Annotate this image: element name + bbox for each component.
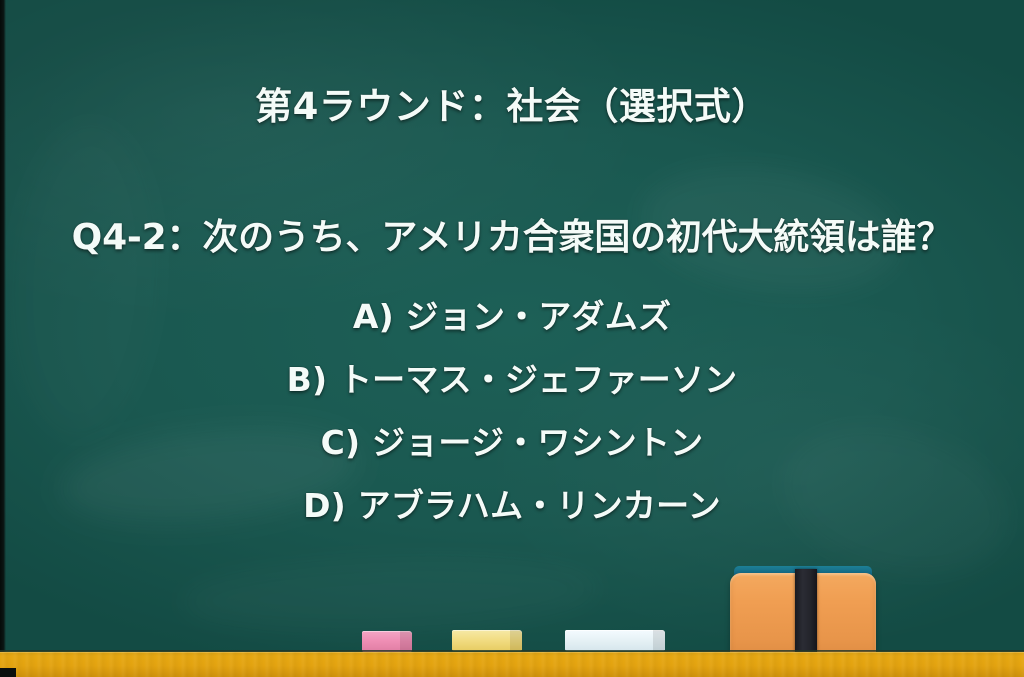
chalk-end-cap bbox=[653, 630, 665, 651]
tray-wood-grain bbox=[0, 652, 1024, 677]
chalk-end-cap bbox=[510, 630, 522, 651]
white-chalk bbox=[565, 630, 665, 651]
choice-option-b[interactable]: B) トーマス・ジェファーソン bbox=[0, 348, 1024, 411]
chalk-tray bbox=[0, 652, 1024, 677]
chalkboard-quiz-slide: 第4ラウンド：社会（選択式） Q4-2：次のうち、アメリカ合衆国の初代大統領は誰… bbox=[0, 0, 1024, 677]
chalk-dust-smudge bbox=[179, 553, 601, 638]
question-text: Q4-2：次のうち、アメリカ合衆国の初代大統領は誰？ bbox=[0, 215, 1024, 262]
choice-option-d[interactable]: D) アブラハム・リンカーン bbox=[0, 474, 1024, 537]
choice-option-a[interactable]: A) ジョン・アダムズ bbox=[0, 285, 1024, 348]
choice-list: A) ジョン・アダムズ B) トーマス・ジェファーソン C) ジョージ・ワシント… bbox=[0, 285, 1024, 537]
chalk-end-cap bbox=[400, 631, 412, 652]
choice-option-c[interactable]: C) ジョージ・ワシントン bbox=[0, 411, 1024, 474]
bottom-left-corner-notch bbox=[0, 668, 16, 677]
pink-chalk bbox=[362, 631, 412, 652]
round-title: 第4ラウンド：社会（選択式） bbox=[0, 84, 1024, 130]
yellow-chalk bbox=[452, 630, 522, 651]
